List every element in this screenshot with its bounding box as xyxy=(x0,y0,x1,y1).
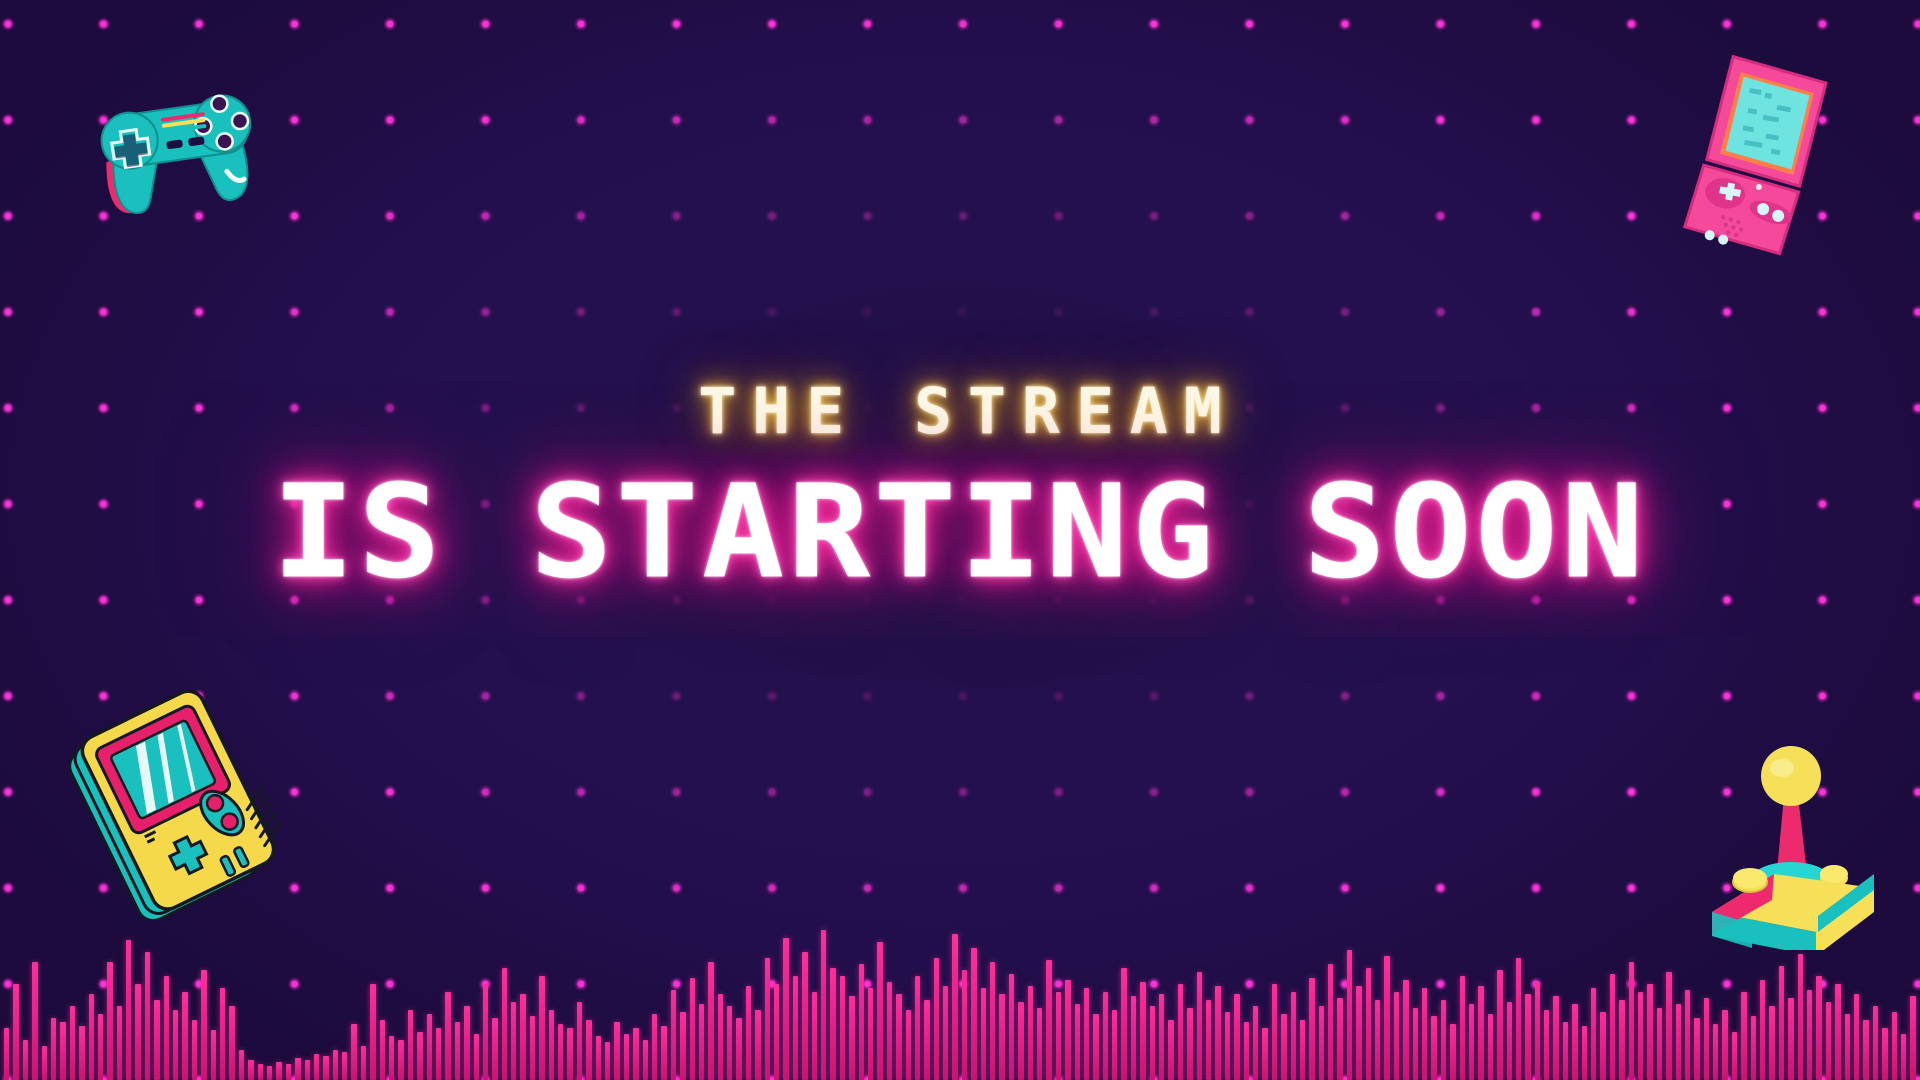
equalizer-bar xyxy=(699,1004,704,1080)
equalizer-bar xyxy=(323,1056,328,1080)
equalizer-bar xyxy=(1798,954,1803,1080)
equalizer-bar xyxy=(1018,1002,1023,1080)
equalizer-bar xyxy=(1525,994,1530,1080)
equalizer-bar xyxy=(952,934,957,1080)
equalizer-bar xyxy=(145,952,150,1080)
equalizer-bar xyxy=(107,962,112,1080)
equalizer-bar xyxy=(370,984,375,1080)
equalizer-bar xyxy=(192,1020,197,1080)
equalizer-bar xyxy=(1582,1026,1587,1080)
equalizer-bar xyxy=(60,1022,65,1080)
equalizer-bar xyxy=(23,1040,28,1080)
equalizer-bar xyxy=(1863,1020,1868,1080)
equalizer-bar xyxy=(135,984,140,1080)
equalizer-bar xyxy=(511,1002,516,1080)
equalizer-bar xyxy=(1028,986,1033,1080)
equalizer-bar xyxy=(1253,1006,1258,1080)
equalizer-bar xyxy=(727,1006,732,1080)
equalizer-bar xyxy=(1178,984,1183,1080)
equalizer-bar xyxy=(1450,1024,1455,1080)
equalizer-bar xyxy=(1413,1008,1418,1080)
equalizer-bar xyxy=(1769,1006,1774,1080)
equalizer-bar xyxy=(633,1028,638,1080)
equalizer-bar xyxy=(1159,994,1164,1080)
equalizer-bar xyxy=(1262,1028,1267,1080)
equalizer-bar xyxy=(924,1000,929,1080)
equalizer-bar xyxy=(539,976,544,1080)
equalizer-bar xyxy=(445,992,450,1080)
equalizer-bar xyxy=(1610,974,1615,1080)
equalizer-bar xyxy=(624,1034,629,1080)
equalizer-bar xyxy=(417,1032,422,1080)
equalizer-bar xyxy=(1131,996,1136,1080)
equalizer-bar xyxy=(1638,992,1643,1080)
equalizer-bar xyxy=(1741,992,1746,1080)
equalizer-bar xyxy=(671,990,676,1080)
equalizer-bar xyxy=(239,1050,244,1080)
equalizer-bar xyxy=(596,1036,601,1080)
equalizer-bar xyxy=(70,1006,75,1080)
equalizer-bar xyxy=(1056,992,1061,1080)
equalizer-bar xyxy=(1309,978,1314,1080)
equalizer-bar xyxy=(474,1034,479,1080)
equalizer-bar xyxy=(1366,968,1371,1080)
equalizer-bar xyxy=(586,1020,591,1080)
yellow-handheld-console-icon xyxy=(62,690,292,920)
equalizer-bar xyxy=(126,940,131,1080)
equalizer-bar xyxy=(530,1016,535,1080)
equalizer-bar xyxy=(98,1014,103,1080)
equalizer-bar xyxy=(436,1028,441,1080)
equalizer-bar xyxy=(79,1026,84,1080)
equalizer-bar xyxy=(211,1030,216,1080)
equalizer-bar xyxy=(1535,982,1540,1080)
equalizer-bar xyxy=(117,1006,122,1080)
equalizer-bar xyxy=(408,1010,413,1080)
equalizer-bar xyxy=(520,994,525,1080)
equalizer-bar xyxy=(1422,988,1427,1080)
equalizer-bar xyxy=(1244,1022,1249,1080)
equalizer-bar xyxy=(1713,1024,1718,1080)
equalizer-bar xyxy=(229,1006,234,1080)
equalizer-bar xyxy=(276,1062,281,1080)
equalizer-bar xyxy=(258,1064,263,1080)
arcade-joystick-icon xyxy=(1688,730,1898,950)
equalizer-bar xyxy=(1553,996,1558,1080)
equalizer-bar xyxy=(1591,988,1596,1080)
equalizer-bar xyxy=(1835,984,1840,1080)
equalizer-bar xyxy=(558,1024,563,1080)
equalizer-bar xyxy=(1469,1004,1474,1080)
equalizer-bar xyxy=(380,1020,385,1080)
equalizer-bar xyxy=(1722,1010,1727,1080)
equalizer-bar xyxy=(614,1022,619,1080)
pink-clamshell-console-icon xyxy=(1672,48,1862,268)
equalizer-bar xyxy=(483,984,488,1080)
equalizer-bar xyxy=(774,984,779,1080)
equalizer-bar xyxy=(1394,992,1399,1080)
stream-overlay-stage: THE STREAM IS STARTING SOON xyxy=(0,0,1920,1080)
equalizer-bar xyxy=(173,1010,178,1080)
equalizer-bar xyxy=(765,958,770,1080)
equalizer-bar xyxy=(1121,968,1126,1080)
equalizer-bar xyxy=(1845,1014,1850,1080)
equalizer-bar xyxy=(502,968,507,1080)
equalizer-bar xyxy=(1685,990,1690,1080)
equalizer-bar xyxy=(999,994,1004,1080)
equalizer-bar xyxy=(1882,1028,1887,1080)
equalizer-bar xyxy=(164,976,169,1080)
equalizer-bar xyxy=(1272,984,1277,1080)
equalizer-bar xyxy=(1779,966,1784,1080)
equalizer-bar xyxy=(1337,998,1342,1080)
equalizer-bar xyxy=(1328,964,1333,1080)
equalizer-bar xyxy=(934,958,939,1080)
equalizer-bar xyxy=(1507,1002,1512,1080)
equalizer-bar xyxy=(652,1014,657,1080)
equalizer-bar xyxy=(1600,1012,1605,1080)
equalizer-bar xyxy=(1694,1018,1699,1080)
equalizer-bar xyxy=(1572,1004,1577,1080)
equalizer-bar xyxy=(1544,1010,1549,1080)
equalizer-bar xyxy=(1760,980,1765,1080)
equalizer-bar xyxy=(990,962,995,1080)
equalizer-bar xyxy=(577,1002,582,1080)
equalizer-bar xyxy=(1215,986,1220,1080)
equalizer-bar xyxy=(1751,1016,1756,1080)
equalizer-bar xyxy=(1384,956,1389,1080)
equalizer-bar xyxy=(1892,1012,1897,1080)
equalizer-bar xyxy=(4,1028,9,1080)
equalizer-bar xyxy=(1788,998,1793,1080)
equalizer-bar xyxy=(1291,992,1296,1080)
equalizer-bar xyxy=(943,986,948,1080)
retro-gamepad-icon xyxy=(72,60,282,220)
equalizer-bar xyxy=(567,1028,572,1080)
equalizer-bar xyxy=(1084,988,1089,1080)
equalizer-bar xyxy=(661,1026,666,1080)
equalizer-bar xyxy=(455,1022,460,1080)
equalizer-bar xyxy=(351,1024,356,1080)
equalizer-bar xyxy=(690,978,695,1080)
equalizer-bar xyxy=(32,962,37,1080)
equalizer-bar xyxy=(42,1046,47,1080)
equalizer-bar xyxy=(981,988,986,1080)
equalizer-bar xyxy=(389,1036,394,1080)
equalizer-bar xyxy=(1140,982,1145,1080)
equalizer-bar xyxy=(1075,1004,1080,1080)
equalizer-bar xyxy=(1873,1006,1878,1080)
equalizer-bar xyxy=(1910,996,1915,1080)
equalizer-bar xyxy=(1901,1034,1906,1080)
equalizer-bar xyxy=(1657,1008,1662,1080)
equalizer-bar xyxy=(1037,1008,1042,1080)
equalizer-bar xyxy=(1300,1020,1305,1080)
equalizer-bar xyxy=(1356,986,1361,1080)
equalizer-bar xyxy=(1516,958,1521,1080)
equalizer-bar xyxy=(708,962,713,1080)
equalizer-bar xyxy=(1816,976,1821,1080)
equalizer-bar xyxy=(1319,1006,1324,1080)
equalizer-bar xyxy=(1103,992,1108,1080)
equalizer-bar xyxy=(1441,1000,1446,1080)
equalizer-bar xyxy=(962,970,967,1080)
equalizer-bar xyxy=(464,1006,469,1080)
equalizer-bar xyxy=(13,984,18,1080)
equalizer-bar xyxy=(314,1054,319,1080)
equalizer-bar xyxy=(1704,998,1709,1080)
equalizer-bar xyxy=(605,1042,610,1080)
equalizer-bar xyxy=(1281,1014,1286,1080)
title-line-main: IS STARTING SOON xyxy=(0,469,1920,597)
equalizer-bar xyxy=(1225,1012,1230,1080)
equalizer-bar xyxy=(1431,1016,1436,1080)
equalizer-bar xyxy=(305,1060,310,1080)
equalizer-bar xyxy=(1488,1014,1493,1080)
equalizer-bar xyxy=(267,1066,272,1080)
equalizer-bar xyxy=(1150,1006,1155,1080)
equalizer-bar xyxy=(1009,974,1014,1080)
equalizer-bar xyxy=(915,976,920,1080)
equalizer-bar xyxy=(1206,1000,1211,1080)
equalizer-bar xyxy=(906,1010,911,1080)
equalizer-bar xyxy=(1234,994,1239,1080)
equalizer-bar xyxy=(736,1018,741,1080)
equalizer-bar xyxy=(1497,970,1502,1080)
equalizer-bar xyxy=(821,930,826,1080)
equalizer-bar xyxy=(1854,994,1859,1080)
title-line-top: THE STREAM xyxy=(0,380,1920,443)
equalizer-bar xyxy=(286,1064,291,1080)
equalizer-bar xyxy=(295,1058,300,1080)
equalizer-bar xyxy=(859,964,864,1080)
equalizer-bar xyxy=(1807,990,1812,1080)
equalizer-bar xyxy=(1460,976,1465,1080)
equalizer-bar xyxy=(1403,980,1408,1080)
equalizer-bar xyxy=(1187,1008,1192,1080)
equalizer-bar xyxy=(492,1018,497,1080)
equalizer-bar xyxy=(427,1014,432,1080)
equalizer-bar xyxy=(1065,980,1070,1080)
equalizer-bar xyxy=(680,1012,685,1080)
equalizer-bar xyxy=(1619,1000,1624,1080)
equalizer-bar xyxy=(1046,960,1051,1080)
equalizer-bar xyxy=(1676,1004,1681,1080)
equalizer-bar xyxy=(755,1010,760,1080)
equalizer-bar xyxy=(220,988,225,1080)
equalizer-bar xyxy=(361,1046,366,1080)
equalizer-bar xyxy=(1347,950,1352,1080)
center-text-block: THE STREAM IS STARTING SOON xyxy=(0,380,1920,597)
equalizer-bar xyxy=(182,992,187,1080)
equalizer-bar xyxy=(342,1052,347,1080)
equalizer-bar xyxy=(89,994,94,1080)
equalizer-bar xyxy=(971,948,976,1080)
equalizer-bar xyxy=(868,988,873,1080)
equalizer-bar xyxy=(1112,1010,1117,1080)
equalizer-bar xyxy=(840,976,845,1080)
equalizer-bar xyxy=(1375,1000,1380,1080)
equalizer-bar xyxy=(248,1060,253,1080)
equalizer-bar xyxy=(154,1000,159,1080)
equalizer-bar xyxy=(643,1040,648,1080)
equalizer-bar xyxy=(783,938,788,1080)
equalizer-bar xyxy=(1478,986,1483,1080)
equalizer-bar xyxy=(1563,1022,1568,1080)
equalizer-bar xyxy=(1093,1014,1098,1080)
equalizer-bar xyxy=(1197,972,1202,1080)
equalizer-bar xyxy=(1826,1002,1831,1080)
equalizer-bar xyxy=(877,942,882,1080)
equalizer-bar xyxy=(812,992,817,1080)
equalizer-bar xyxy=(201,970,206,1080)
equalizer-bar xyxy=(1732,1032,1737,1080)
equalizer-bar xyxy=(1647,984,1652,1080)
equalizer-bar xyxy=(549,1010,554,1080)
equalizer-bar xyxy=(887,982,892,1080)
equalizer-bar xyxy=(1666,972,1671,1080)
equalizer-bar xyxy=(1168,1020,1173,1080)
equalizer-bar xyxy=(51,1018,56,1080)
equalizer-bar xyxy=(849,996,854,1080)
equalizer-bar xyxy=(802,952,807,1080)
equalizer-bar xyxy=(1629,962,1634,1080)
equalizer-bar xyxy=(398,1040,403,1080)
equalizer-bar xyxy=(333,1050,338,1080)
equalizer-bar xyxy=(746,986,751,1080)
equalizer-bar xyxy=(896,994,901,1080)
equalizer-bar xyxy=(793,976,798,1080)
equalizer-bar xyxy=(718,994,723,1080)
equalizer-bar xyxy=(830,968,835,1080)
